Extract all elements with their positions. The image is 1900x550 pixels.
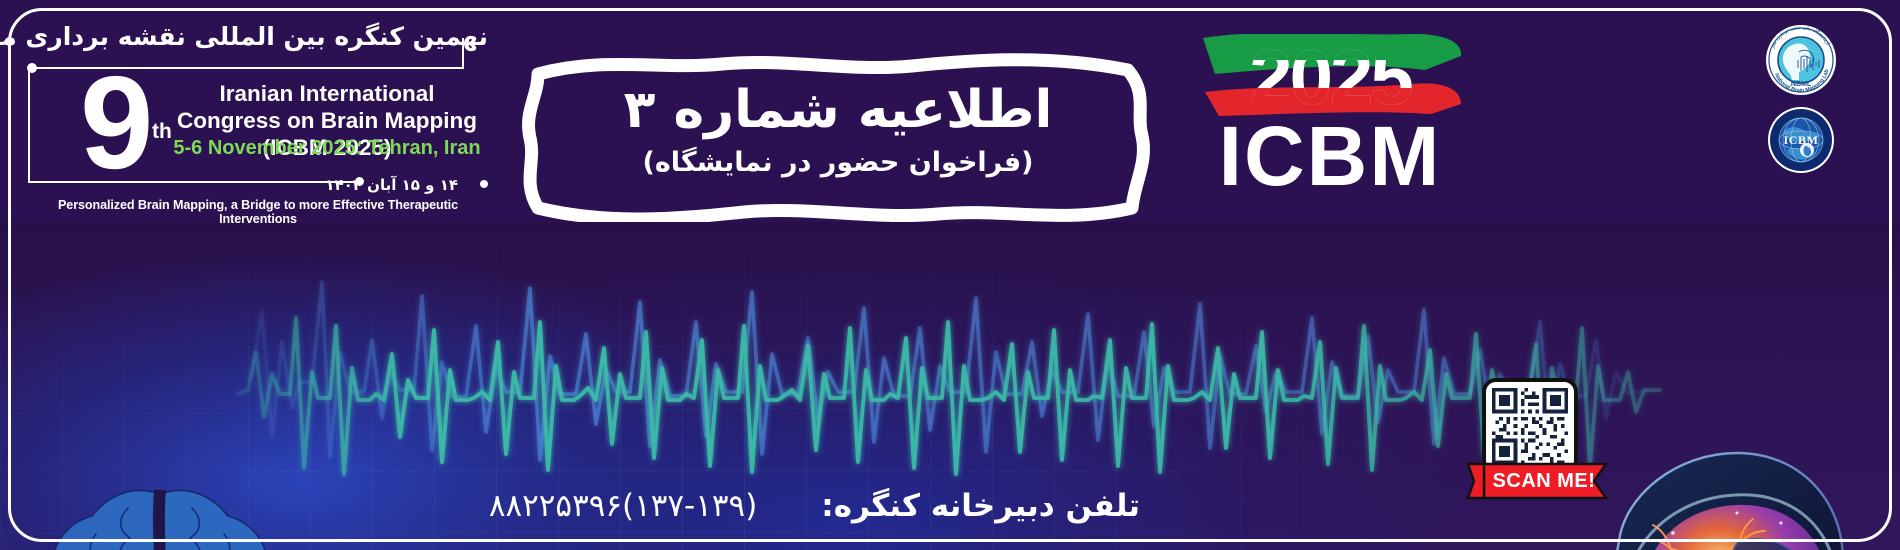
icbm-globe-logo-icon: ICBM (1767, 106, 1835, 174)
congress-logo-block: نهمین کنگره بین المللی نقشه برداری مغز ا… (28, 20, 488, 210)
icbm-circle-logo: ICBM (1767, 106, 1835, 174)
phone-number: ۸۸۲۲۵۳۹۶(۱۳۷-۱۳۹) (489, 488, 757, 524)
qr-code-block[interactable]: SCAN ME! (1464, 378, 1634, 510)
announcement-subtitle: (فراخوان حضور در نمایشگاه) (643, 144, 1034, 182)
icbm-2025-logo: 2025 2025 ICBM (1195, 20, 1465, 205)
congress-english-date: 5-6 November 2025؛ Tehran, Iran (168, 136, 486, 160)
plaque-text-group: اطلاعیه شماره ۳ (فراخوان حضور در نمایشگا… (508, 40, 1168, 222)
icbm-acronym: ICBM (1195, 114, 1465, 198)
year-2025-flag-icon: 2025 2025 (1195, 34, 1465, 118)
congress-tagline: Personalized Brain Mapping, a Bridge to … (28, 198, 488, 226)
scan-me-label: SCAN ME! (1490, 466, 1598, 496)
nbml-logo: NBML National Brain Mapping Lab آزمایشگا… (1765, 24, 1837, 96)
title-rule-vertical (462, 38, 464, 69)
contact-row: تلفن دبیرخانه کنگره: ۸۸۲۲۵۳۹۶(۱۳۷-۱۳۹) (380, 478, 1140, 534)
nbml-logo-icon: NBML National Brain Mapping Lab آزمایشگا… (1765, 24, 1837, 96)
icbm-circle-acronym-text: ICBM (1783, 133, 1818, 147)
persian-date-dot (480, 180, 488, 188)
congress-persian-date: ۱۴ و ۱۵ آبان ۱۴۰۴ (228, 176, 458, 194)
ordinal-number: 9 (80, 64, 153, 182)
icbm-announcement-banner: نهمین کنگره بین المللی نقشه برداری مغز ا… (0, 0, 1900, 550)
qr-matrix (1492, 388, 1568, 464)
announcement-title: اطلاعیه شماره ۳ (624, 80, 1053, 140)
phone-label: تلفن دبیرخانه کنگره: (821, 488, 1140, 524)
announcement-plaque: اطلاعیه شماره ۳ (فراخوان حضور در نمایشگا… (508, 40, 1168, 222)
brain-top-view-icon (10, 464, 310, 550)
